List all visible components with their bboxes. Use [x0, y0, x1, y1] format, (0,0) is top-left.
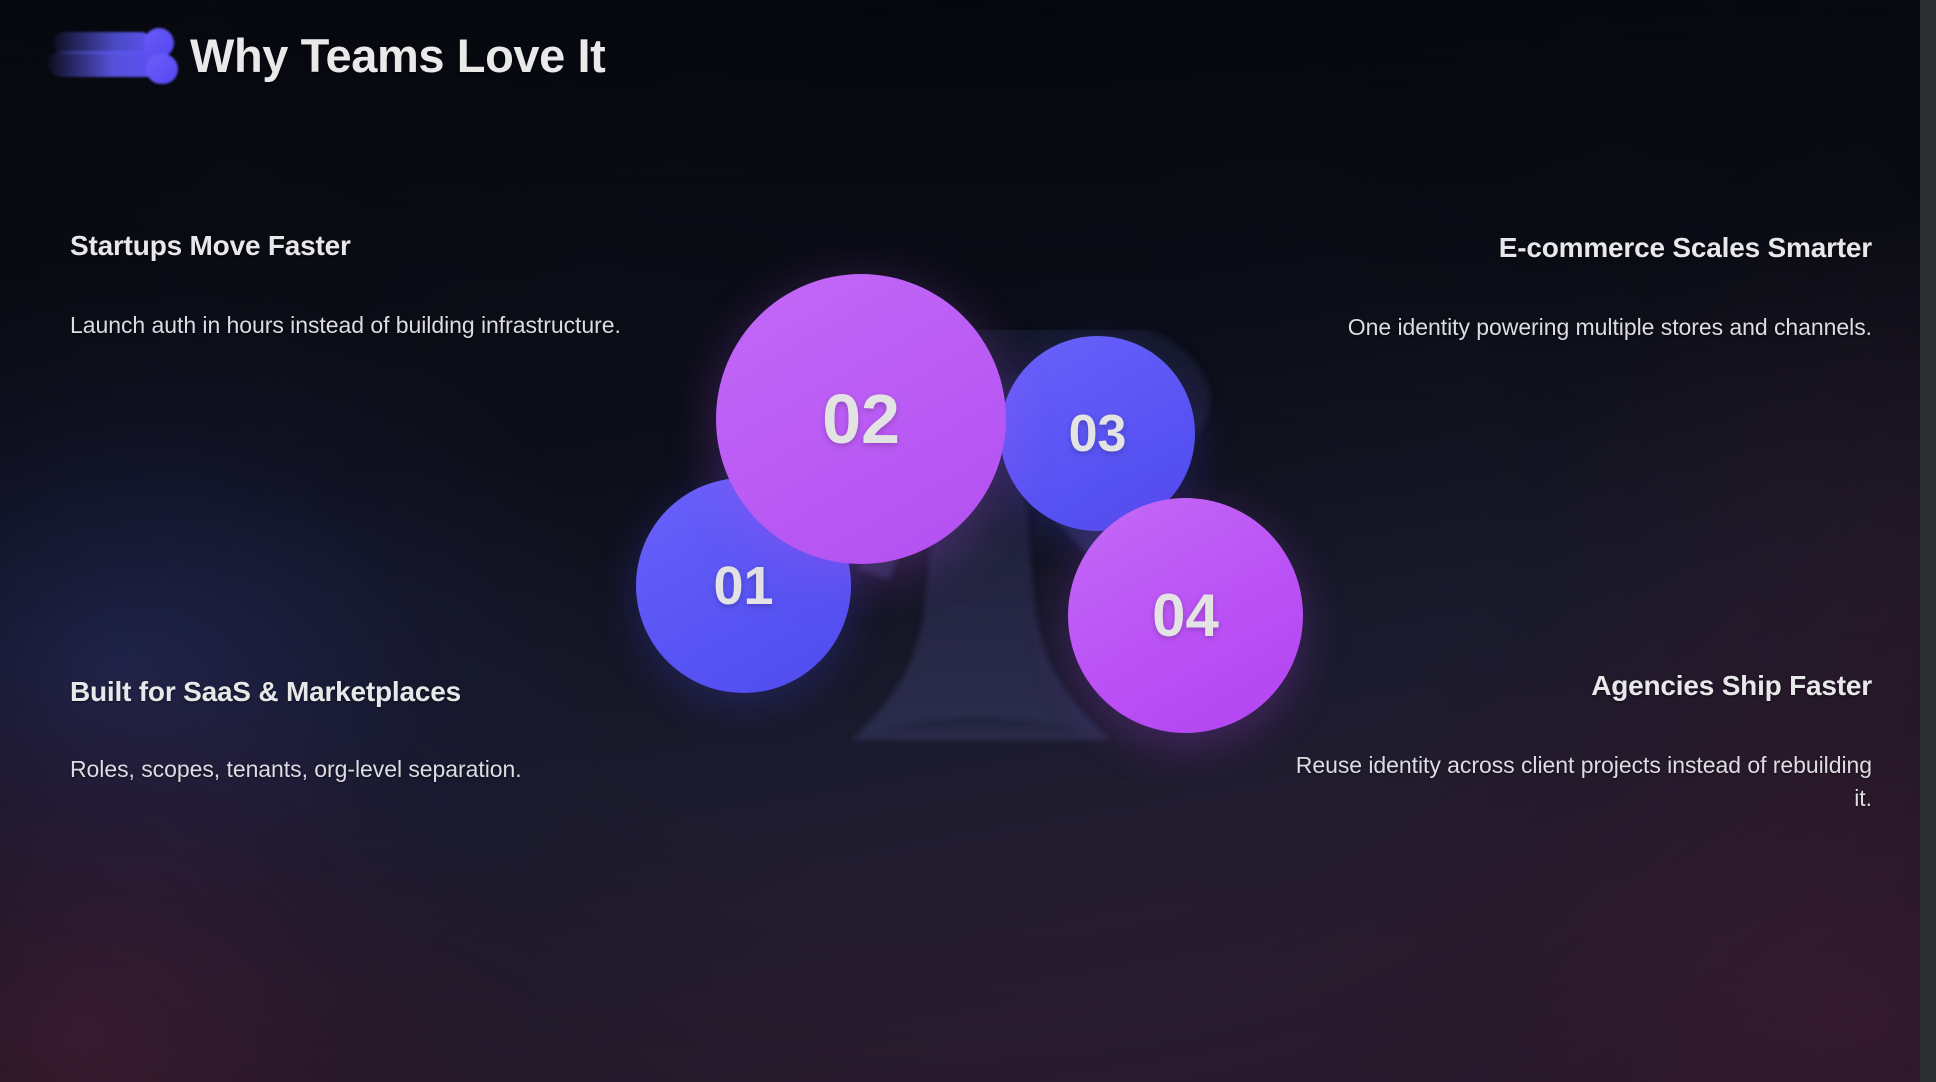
step-circle-02[interactable]: 02: [716, 274, 1006, 564]
feature-block-ecommerce: E-commerce Scales Smarter One identity p…: [1312, 230, 1872, 344]
feature-block-agencies: Agencies Ship Faster Reuse identity acro…: [1272, 668, 1872, 814]
page-title: Why Teams Love It: [190, 28, 605, 83]
feature-heading-saas: Built for SaaS & Marketplaces: [70, 674, 670, 709]
background-blue-glow: [0, 0, 1920, 1082]
feature-heading-ecommerce: E-commerce Scales Smarter: [1312, 230, 1872, 265]
feature-block-startups: Startups Move Faster Launch auth in hour…: [70, 228, 630, 342]
background-magenta-glow: [0, 0, 1920, 1082]
page-gutter-strip: [1920, 0, 1936, 1082]
feature-body-saas: Roles, scopes, tenants, org-level separa…: [70, 753, 670, 786]
background-right-mid-glow: [0, 0, 1920, 1082]
stacked-bars-logo-icon: [48, 26, 168, 84]
feature-heading-agencies: Agencies Ship Faster: [1272, 668, 1872, 703]
slide-canvas: Why Teams Love It Startups Move Faster L…: [0, 0, 1920, 1082]
feature-body-startups: Launch auth in hours instead of building…: [70, 309, 630, 342]
step-circle-04[interactable]: 04: [1068, 498, 1303, 733]
background-base-gradient: [0, 0, 1920, 1082]
feature-body-agencies: Reuse identity across client projects in…: [1272, 749, 1872, 814]
background-right-glow: [0, 0, 1920, 1082]
slide-header: Why Teams Love It: [48, 26, 605, 84]
feature-block-saas: Built for SaaS & Marketplaces Roles, sco…: [70, 674, 670, 786]
feature-heading-startups: Startups Move Faster: [70, 228, 630, 263]
feature-body-ecommerce: One identity powering multiple stores an…: [1312, 311, 1872, 344]
background-top-darkening: [0, 0, 1920, 1082]
background-noise-texture: [0, 0, 1920, 1082]
background-vignette: [0, 0, 1920, 1082]
